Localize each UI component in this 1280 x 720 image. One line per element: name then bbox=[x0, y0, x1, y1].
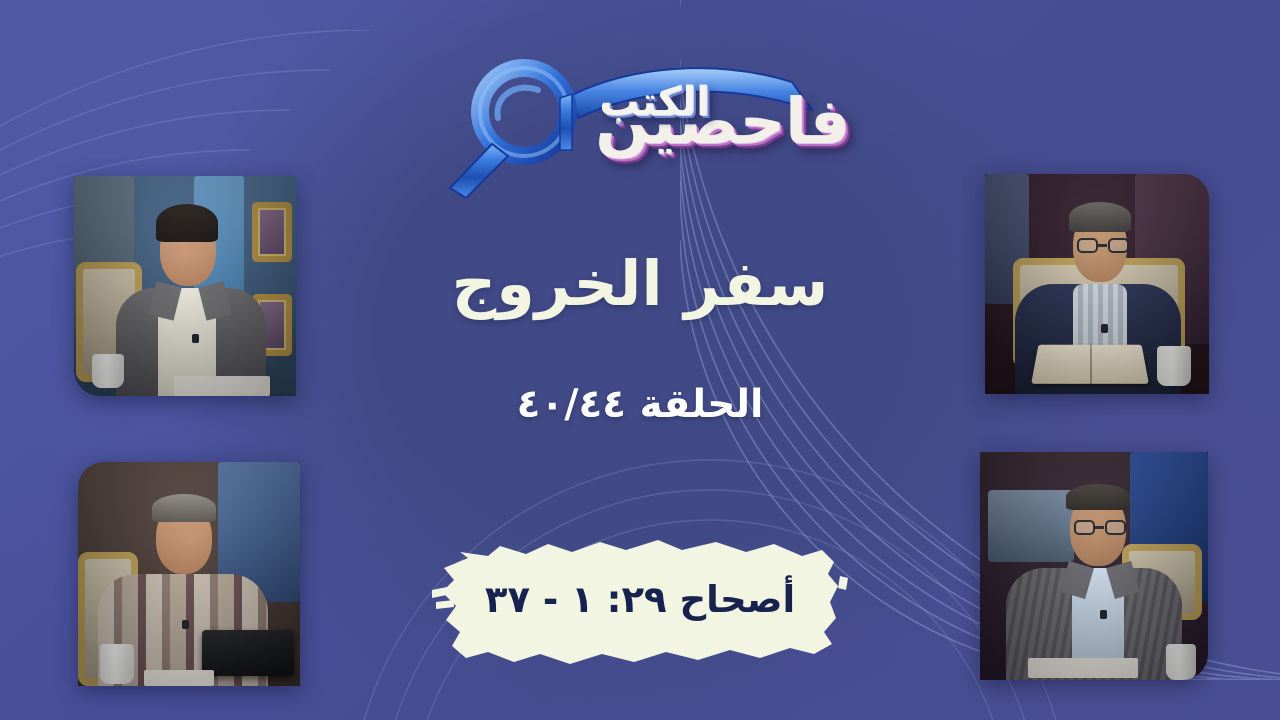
page-title: سفر الخروج bbox=[320, 250, 960, 318]
thumbnail-bottom-right[interactable] bbox=[980, 452, 1208, 680]
guest-plaid-shirt-photo bbox=[78, 462, 300, 686]
scripture-banner: أصحاح ٢٩: ١ - ٣٧ bbox=[430, 528, 850, 674]
guest-gray-suit-photo bbox=[980, 452, 1208, 680]
episode-label: الحلقة ٤٠/٤٤ bbox=[320, 384, 960, 427]
thumbnail-top-right[interactable] bbox=[985, 174, 1209, 394]
guest-reading-book-photo bbox=[985, 174, 1209, 394]
thumbnail-bottom-left[interactable] bbox=[78, 462, 300, 686]
presenter-gray-blazer-photo bbox=[74, 176, 296, 396]
thumbnail-top-left[interactable] bbox=[74, 176, 296, 396]
video-title-card: فاحصين الكتب سفر الخروج الحلقة ٤٠/٤٤ أصح… bbox=[0, 0, 1280, 720]
scripture-reference: أصحاح ٢٩: ١ - ٣٧ bbox=[430, 528, 850, 674]
center-text-column: سفر الخروج الحلقة ٤٠/٤٤ bbox=[320, 0, 960, 427]
